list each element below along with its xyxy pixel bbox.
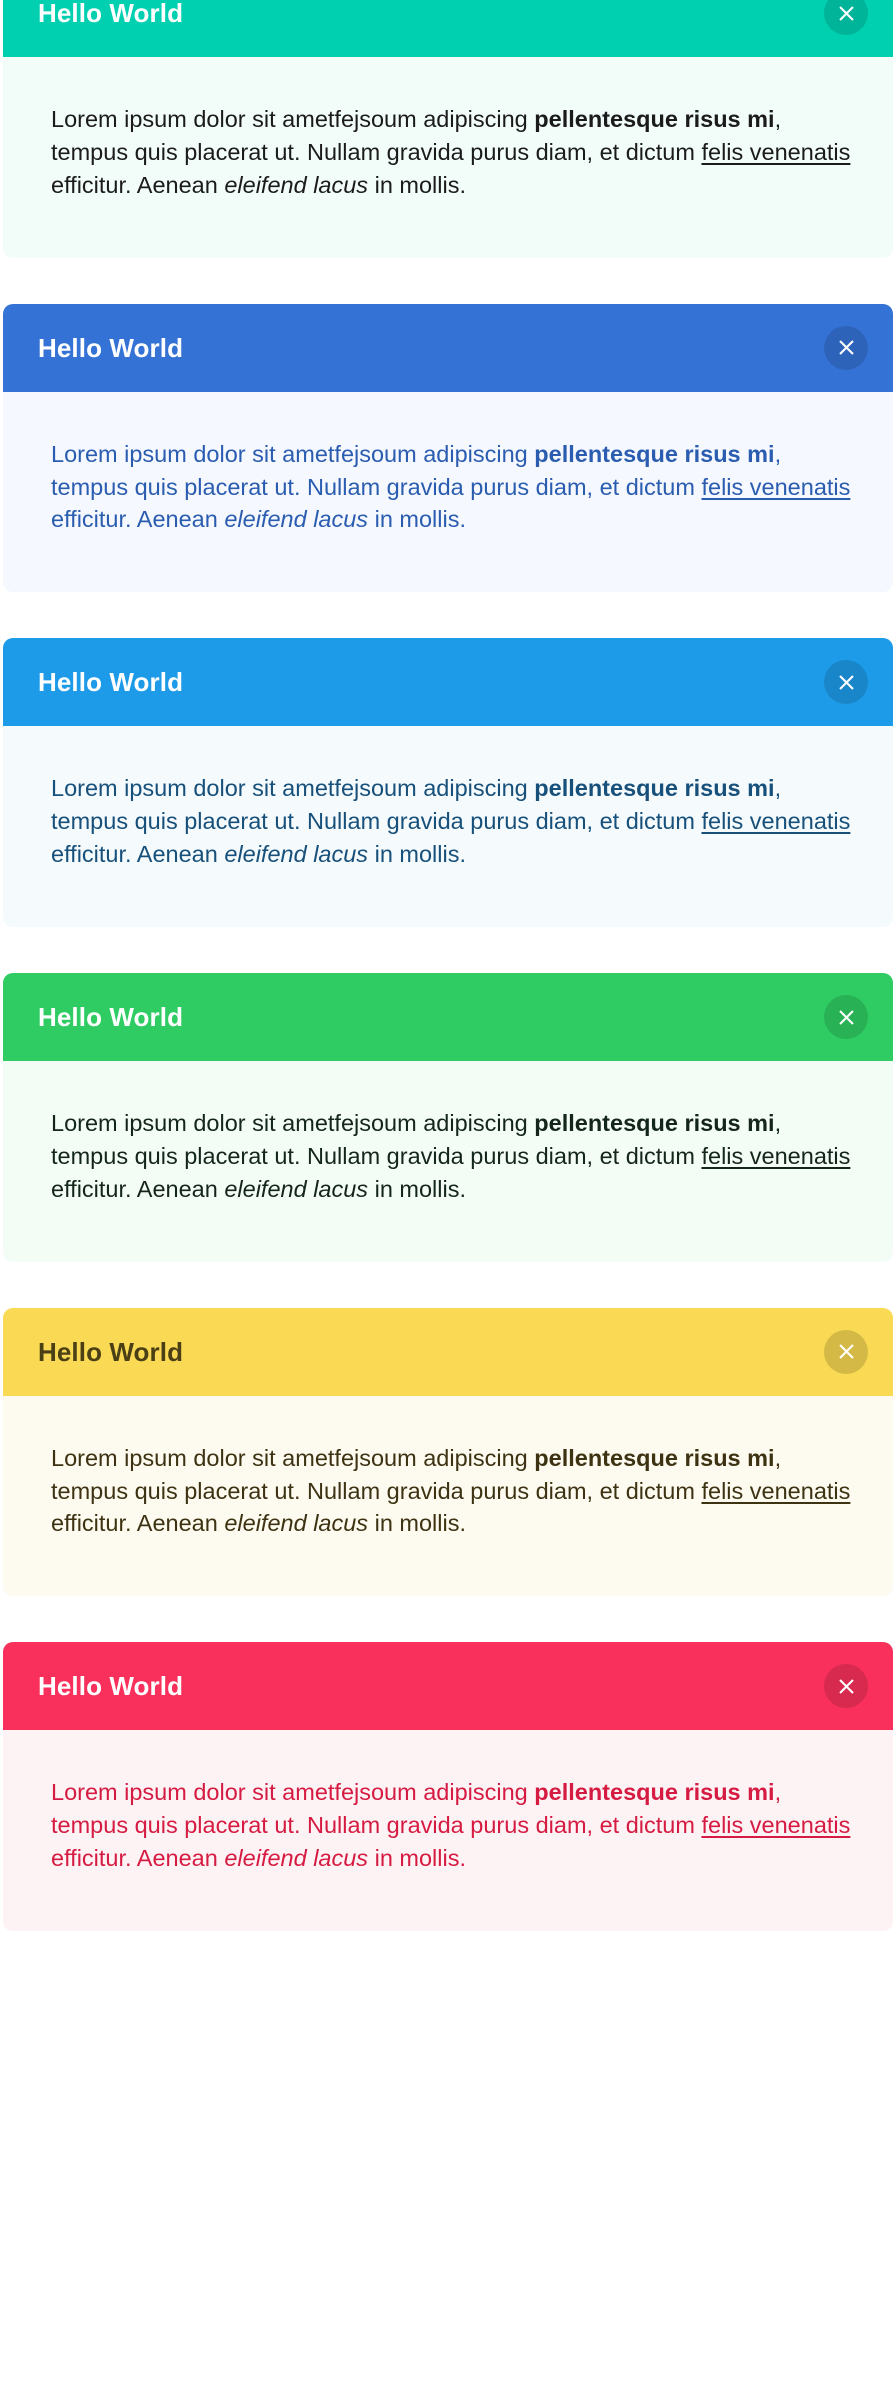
- close-icon[interactable]: [824, 995, 868, 1039]
- alert-header-primary: Hello World: [3, 304, 893, 392]
- alert-body-warning: Lorem ipsum dolor sit ametfejsoum adipis…: [3, 1396, 893, 1597]
- alert-message: Lorem ipsum dolor sit ametfejsoum adipis…: [51, 772, 853, 871]
- alert-card-danger: Hello WorldLorem ipsum dolor sit ametfej…: [3, 1642, 893, 1931]
- message-link[interactable]: felis venenatis: [701, 808, 850, 834]
- alert-title: Hello World: [38, 669, 183, 695]
- alert-stack: Hello WorldLorem ipsum dolor sit ametfej…: [0, 0, 896, 1977]
- message-emphasis-italic: eleifend lacus: [224, 506, 368, 532]
- alert-body-teal: Lorem ipsum dolor sit ametfejsoum adipis…: [3, 57, 893, 258]
- message-emphasis-italic: eleifend lacus: [224, 1510, 368, 1536]
- message-emphasis-strong: pellentesque risus mi: [534, 106, 774, 132]
- alert-header-teal: Hello World: [3, 0, 893, 57]
- message-link[interactable]: felis venenatis: [701, 1812, 850, 1838]
- message-emphasis-italic: eleifend lacus: [224, 841, 368, 867]
- alert-title: Hello World: [38, 0, 183, 26]
- message-emphasis-italic: eleifend lacus: [224, 1845, 368, 1871]
- message-link[interactable]: felis venenatis: [701, 1143, 850, 1169]
- close-icon[interactable]: [824, 1330, 868, 1374]
- alert-header-warning: Hello World: [3, 1308, 893, 1396]
- alert-title: Hello World: [38, 1339, 183, 1365]
- close-icon[interactable]: [824, 660, 868, 704]
- message-emphasis-strong: pellentesque risus mi: [534, 1779, 774, 1805]
- alert-card-warning: Hello WorldLorem ipsum dolor sit ametfej…: [3, 1308, 893, 1597]
- alert-header-success: Hello World: [3, 973, 893, 1061]
- alert-message: Lorem ipsum dolor sit ametfejsoum adipis…: [51, 1442, 853, 1541]
- alert-body-success: Lorem ipsum dolor sit ametfejsoum adipis…: [3, 1061, 893, 1262]
- message-emphasis-italic: eleifend lacus: [224, 1176, 368, 1202]
- alert-body-danger: Lorem ipsum dolor sit ametfejsoum adipis…: [3, 1730, 893, 1931]
- close-icon[interactable]: [824, 326, 868, 370]
- alert-title: Hello World: [38, 1004, 183, 1030]
- alert-header-danger: Hello World: [3, 1642, 893, 1730]
- alert-message: Lorem ipsum dolor sit ametfejsoum adipis…: [51, 1776, 853, 1875]
- alert-message: Lorem ipsum dolor sit ametfejsoum adipis…: [51, 1107, 853, 1206]
- alert-card-info: Hello WorldLorem ipsum dolor sit ametfej…: [3, 638, 893, 927]
- alert-header-info: Hello World: [3, 638, 893, 726]
- alert-title: Hello World: [38, 335, 183, 361]
- alert-message: Lorem ipsum dolor sit ametfejsoum adipis…: [51, 103, 853, 202]
- alert-card-success: Hello WorldLorem ipsum dolor sit ametfej…: [3, 973, 893, 1262]
- message-link[interactable]: felis venenatis: [701, 474, 850, 500]
- alert-body-primary: Lorem ipsum dolor sit ametfejsoum adipis…: [3, 392, 893, 593]
- close-icon[interactable]: [824, 0, 868, 35]
- message-link[interactable]: felis venenatis: [701, 139, 850, 165]
- message-link[interactable]: felis venenatis: [701, 1478, 850, 1504]
- message-emphasis-strong: pellentesque risus mi: [534, 1445, 774, 1471]
- close-icon[interactable]: [824, 1664, 868, 1708]
- alert-message: Lorem ipsum dolor sit ametfejsoum adipis…: [51, 438, 853, 537]
- message-emphasis-strong: pellentesque risus mi: [534, 1110, 774, 1136]
- message-emphasis-strong: pellentesque risus mi: [534, 441, 774, 467]
- alert-body-info: Lorem ipsum dolor sit ametfejsoum adipis…: [3, 726, 893, 927]
- message-emphasis-italic: eleifend lacus: [224, 172, 368, 198]
- alert-title: Hello World: [38, 1673, 183, 1699]
- alert-card-primary: Hello WorldLorem ipsum dolor sit ametfej…: [3, 304, 893, 593]
- alert-card-teal: Hello WorldLorem ipsum dolor sit ametfej…: [3, 0, 893, 258]
- message-emphasis-strong: pellentesque risus mi: [534, 775, 774, 801]
